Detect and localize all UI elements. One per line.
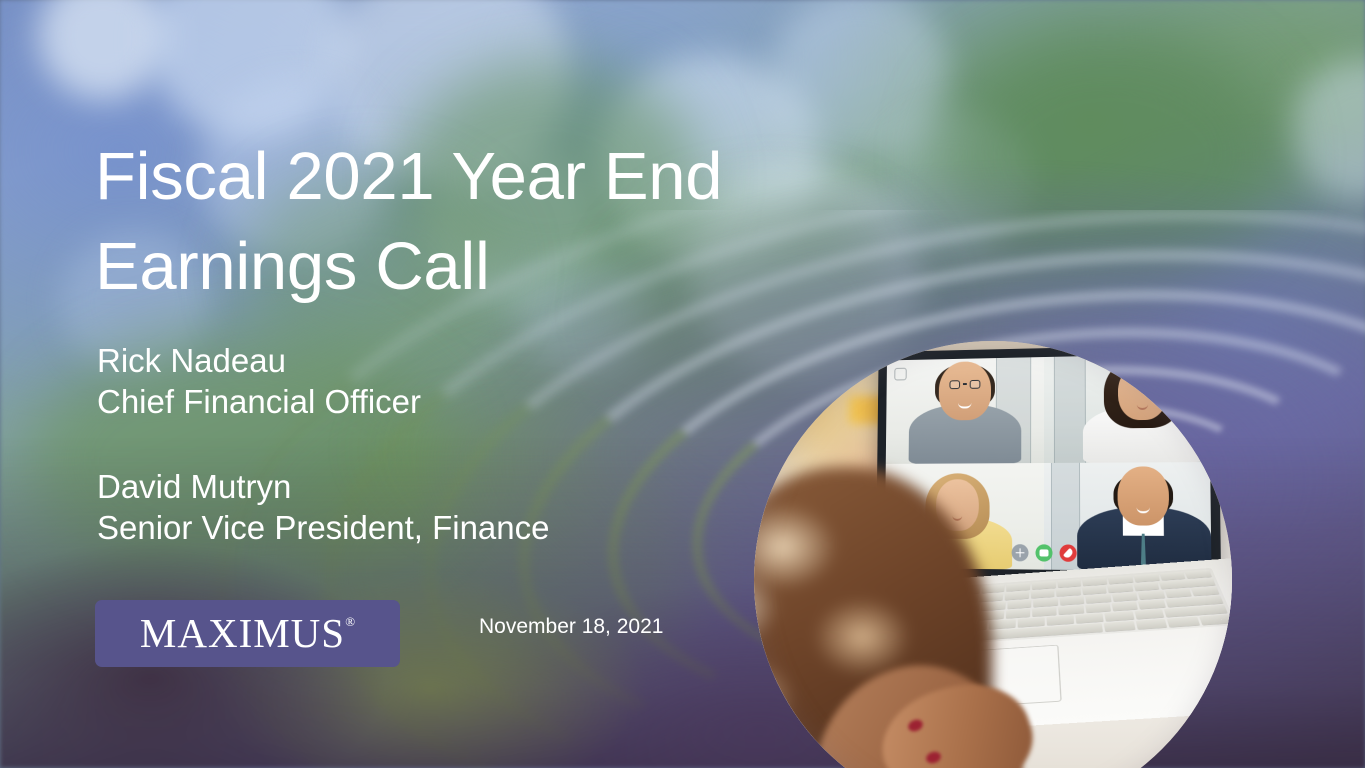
registered-trademark-icon: ®	[345, 615, 356, 628]
lens	[969, 379, 980, 388]
presentation-slide: Fiscal 2021 Year End Earnings Call Rick …	[0, 0, 1365, 768]
speaker-name: Rick Nadeau	[97, 340, 549, 381]
participant-head	[938, 361, 990, 420]
lens	[949, 380, 960, 389]
slide-date: November 18, 2021	[479, 613, 663, 641]
bridge	[962, 383, 966, 385]
slide-title: Fiscal 2021 Year End Earnings Call	[95, 132, 855, 312]
participant-figure	[1082, 353, 1203, 462]
speaker-name: David Mutryn	[97, 466, 549, 507]
photo-content	[754, 341, 1232, 768]
maximus-logo: MAXIMUS ®	[95, 600, 400, 667]
speaker-entry: Rick Nadeau Chief Financial Officer	[97, 340, 549, 422]
speaker-list: Rick Nadeau Chief Financial Officer Davi…	[97, 340, 549, 548]
end-call-icon[interactable]	[1060, 544, 1077, 561]
eyeglasses-icon	[949, 379, 980, 388]
participant-figure	[908, 357, 1021, 463]
camera-icon	[894, 368, 906, 381]
speaker-role: Senior Vice President, Finance	[97, 507, 549, 548]
speaker-role: Chief Financial Officer	[97, 381, 549, 422]
add-participant-icon[interactable]	[1012, 544, 1029, 561]
chat-icon[interactable]	[1035, 544, 1052, 561]
participant-head	[1118, 363, 1167, 420]
participant-head	[1117, 466, 1169, 525]
video-call-photo	[754, 341, 1232, 768]
video-tile-participant-1	[886, 357, 1044, 463]
maximus-wordmark-text: MAXIMUS	[140, 610, 345, 656]
video-tile-participant-2	[1044, 353, 1210, 462]
speaker-entry: David Mutryn Senior Vice President, Fina…	[97, 466, 549, 548]
call-controls[interactable]	[1012, 544, 1077, 562]
participant-figure	[1077, 462, 1211, 572]
maximus-wordmark: MAXIMUS ®	[140, 613, 355, 654]
window-blur	[1054, 356, 1087, 462]
